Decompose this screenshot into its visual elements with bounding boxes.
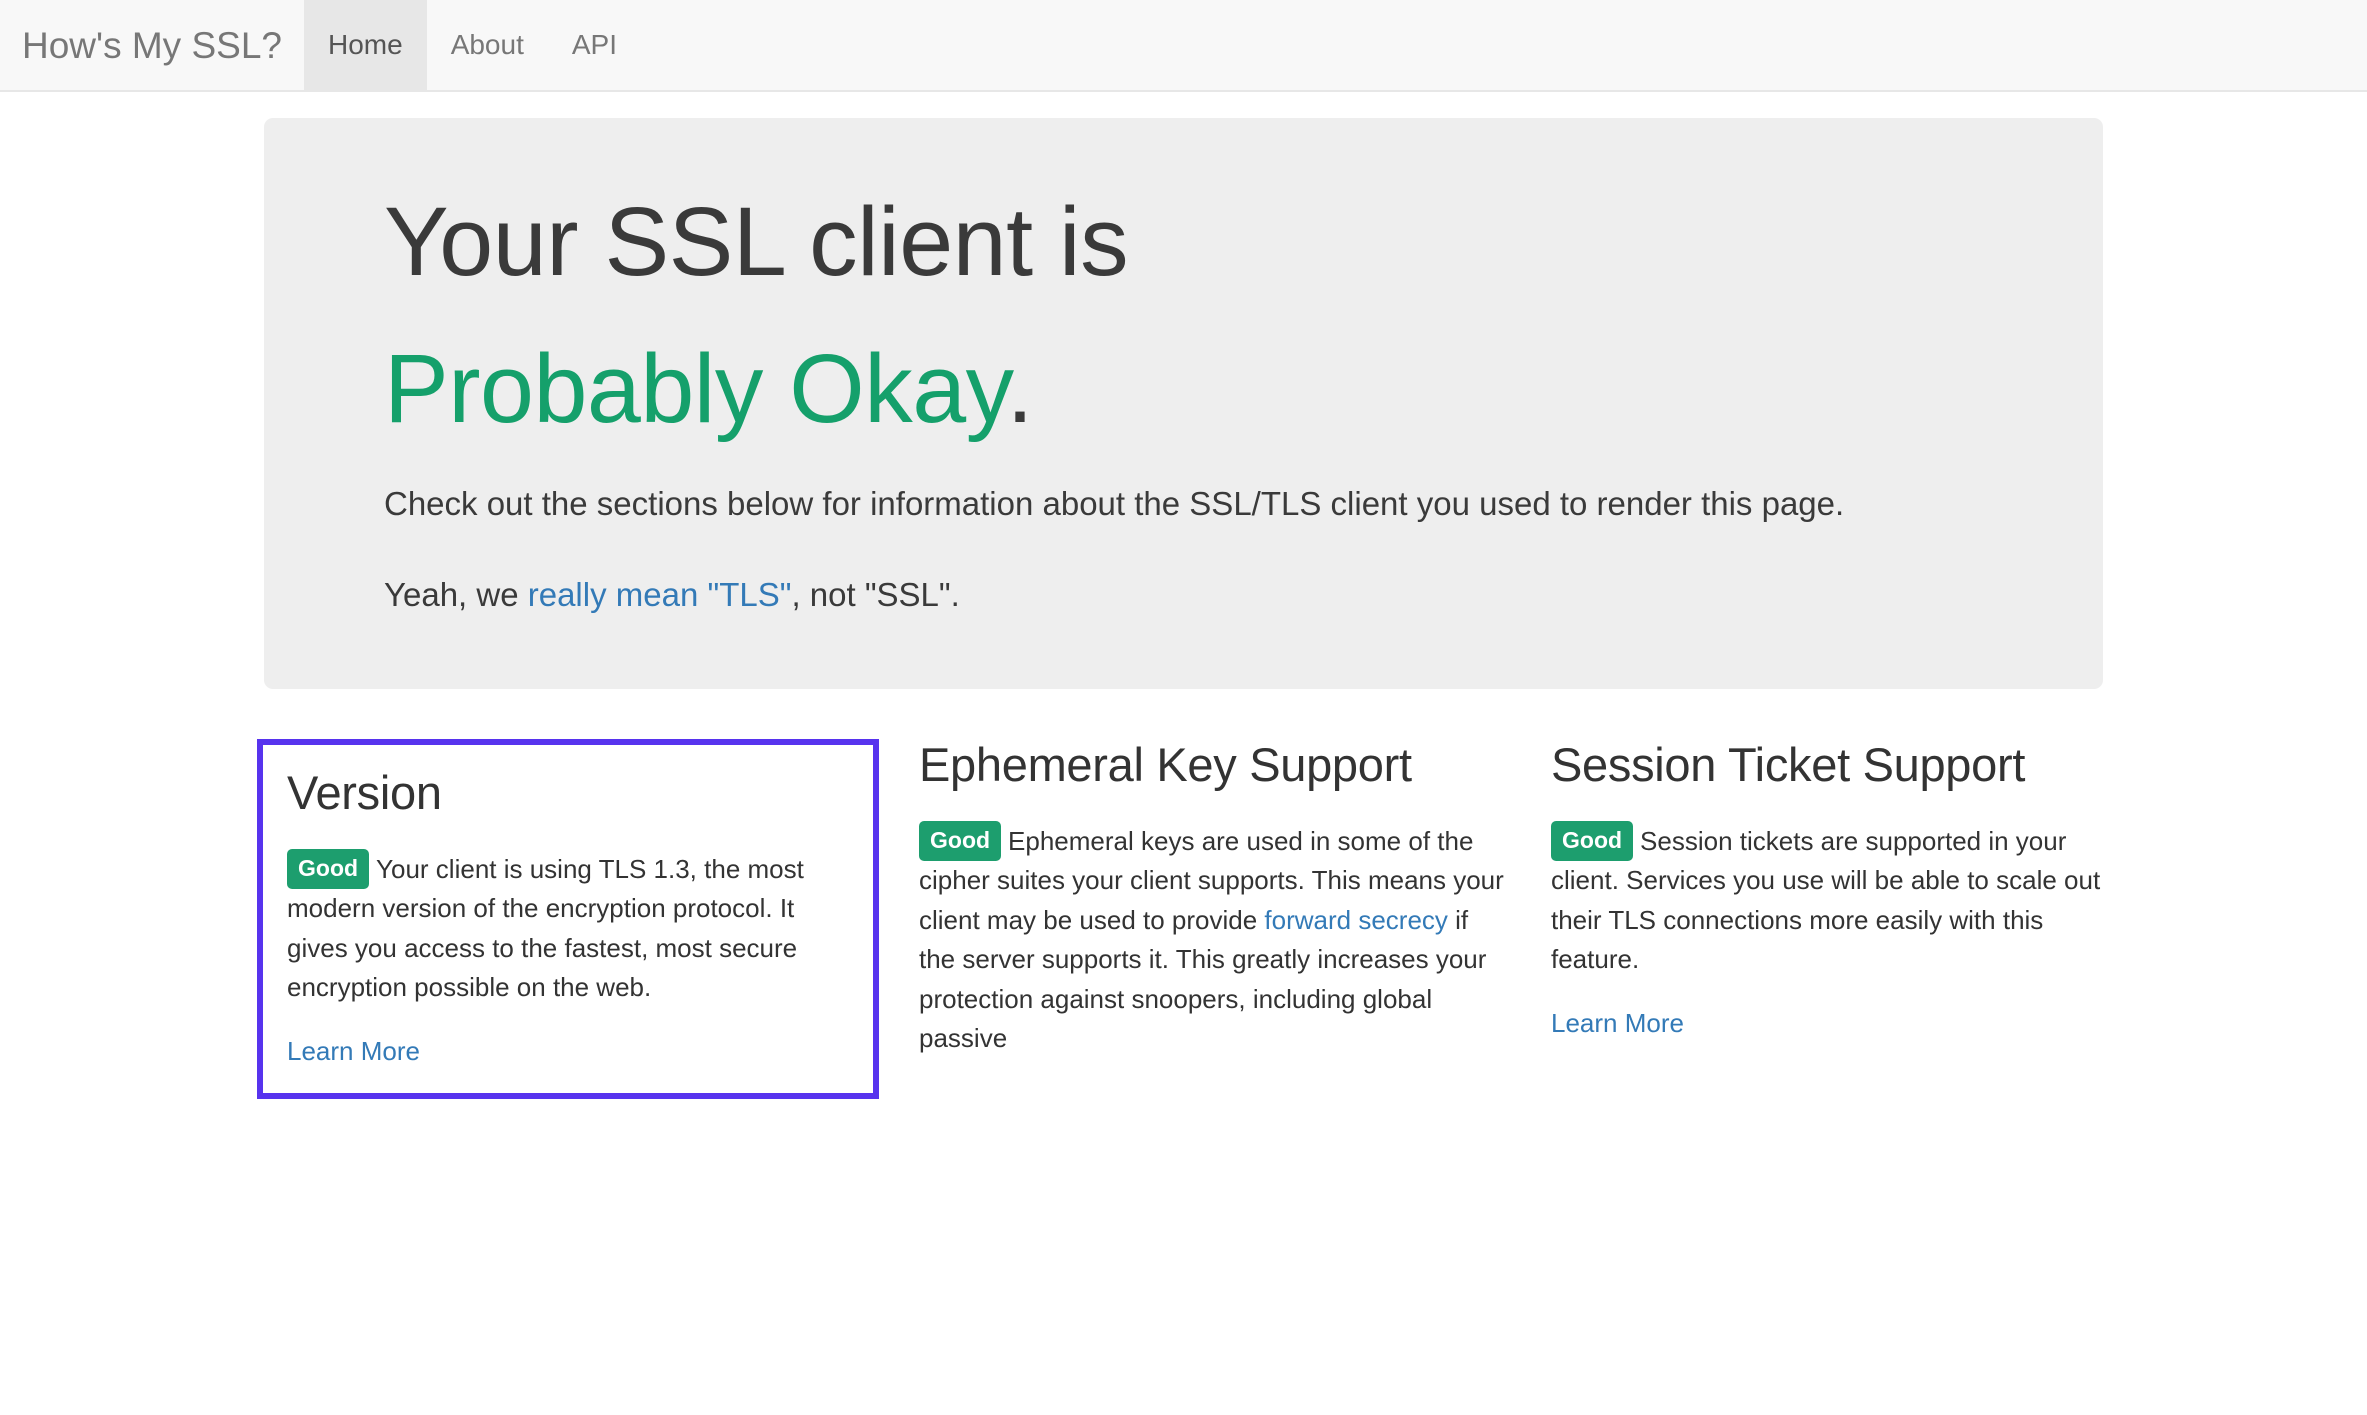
page-title: Your SSL client is Probably Okay. [384, 190, 2013, 442]
card-ephemeral-key-support: Ephemeral Key Support GoodEphemeral keys… [896, 739, 1528, 1099]
card-session-ticket-learn-more-link[interactable]: Learn More [1551, 1008, 2137, 1039]
card-version-learn-more-link[interactable]: Learn More [287, 1036, 849, 1067]
nav-item-api-wrapper: API [548, 0, 641, 90]
nav-item-about-wrapper: About [427, 0, 548, 90]
hero-note: Yeah, we really mean "TLS", not "SSL". [384, 571, 2013, 619]
hero-jumbotron: Your SSL client is Probably Okay. Check … [264, 118, 2103, 689]
really-mean-tls-link[interactable]: really mean "TLS" [528, 576, 792, 613]
hero-note-suffix: , not "SSL". [791, 576, 959, 613]
nav-item-api[interactable]: API [548, 0, 641, 90]
card-session-ticket-body: GoodSession tickets are supported in you… [1551, 821, 2137, 980]
hero-status-period: . [1006, 334, 1032, 443]
navbar-brand[interactable]: How's My SSL? [0, 0, 304, 90]
card-version-inner: Version GoodYour client is using TLS 1.3… [257, 739, 879, 1099]
navbar-nav: Home About API [304, 0, 641, 90]
card-version-body: GoodYour client is using TLS 1.3, the mo… [287, 849, 849, 1008]
card-session-ticket-text: Session tickets are supported in your cl… [1551, 826, 2100, 975]
hero-description: Check out the sections below for informa… [384, 480, 2013, 528]
card-ephemeral-body: GoodEphemeral keys are used in some of t… [919, 821, 1505, 1059]
feature-card-row: Version GoodYour client is using TLS 1.3… [241, 739, 2126, 1099]
nav-item-home[interactable]: Home [304, 0, 427, 90]
card-version[interactable]: Version GoodYour client is using TLS 1.3… [264, 739, 896, 1099]
nav-item-about[interactable]: About [427, 0, 548, 90]
card-session-ticket-title: Session Ticket Support [1551, 739, 2137, 792]
card-session-ticket-inner: Session Ticket Support GoodSession ticke… [1551, 739, 2137, 1039]
status-badge-good: Good [919, 821, 1001, 861]
nav-item-home-wrapper: Home [304, 0, 427, 90]
card-version-title: Version [287, 767, 849, 820]
card-ephemeral-inner: Ephemeral Key Support GoodEphemeral keys… [919, 739, 1505, 1059]
forward-secrecy-link[interactable]: forward secrecy [1264, 905, 1448, 935]
card-session-ticket-support: Session Ticket Support GoodSession ticke… [1528, 739, 2160, 1099]
hero-status-line: Probably Okay. [384, 337, 2013, 442]
card-ephemeral-title: Ephemeral Key Support [919, 739, 1505, 792]
main-container: Your SSL client is Probably Okay. Check … [241, 118, 2126, 689]
hero-title-line1: Your SSL client is [384, 187, 1128, 296]
ssl-status-value: Probably Okay [384, 334, 1006, 443]
navbar: How's My SSL? Home About API [0, 0, 2367, 92]
status-badge-good: Good [287, 849, 369, 889]
hero-note-prefix: Yeah, we [384, 576, 528, 613]
status-badge-good: Good [1551, 821, 1633, 861]
